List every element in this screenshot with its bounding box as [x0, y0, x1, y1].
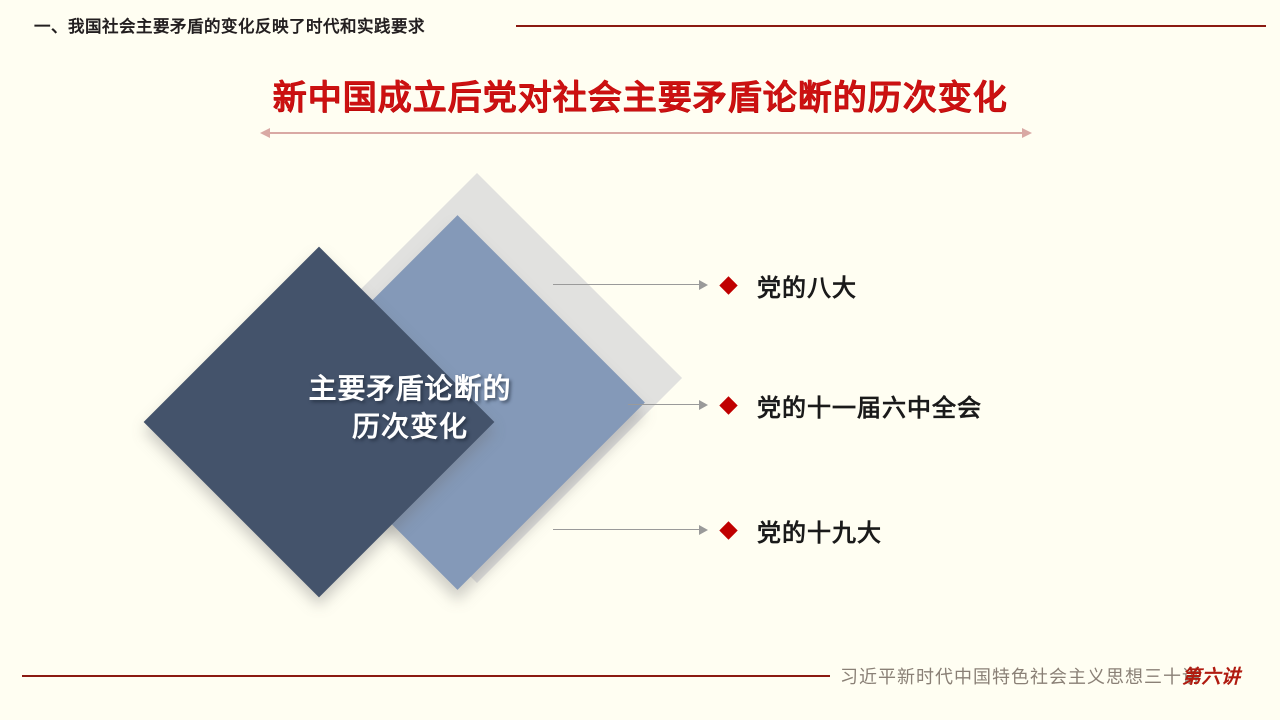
footer-series-title: 习近平新时代中国特色社会主义思想三十讲: [840, 663, 1201, 689]
diamond-center-label-line2: 历次变化: [245, 408, 575, 446]
connector-arrow-icon: [553, 525, 708, 535]
header-divider-line: [516, 25, 1266, 27]
list-item-label: 党的十一届六中全会: [757, 388, 982, 423]
footer-lecture-number: 第六讲: [1182, 662, 1241, 689]
diamond-center-label-line1: 主要矛盾论断的: [245, 370, 575, 408]
connector-arrow-icon: [553, 280, 708, 290]
slide-footer: 习近平新时代中国特色社会主义思想三十讲 第六讲: [0, 660, 1280, 720]
bullet-diamond-icon: [719, 521, 737, 539]
slide-header: 一、我国社会主要矛盾的变化反映了时代和实践要求: [0, 0, 1280, 52]
list-item-label: 党的八大: [757, 268, 857, 303]
list-item[interactable]: 党的八大: [553, 265, 857, 305]
list-item[interactable]: 党的十一届六中全会: [628, 385, 982, 425]
arrow-right-icon: [1022, 128, 1032, 138]
section-heading: 一、我国社会主要矛盾的变化反映了时代和实践要求: [34, 13, 425, 37]
bullet-diamond-icon: [719, 396, 737, 414]
slide-title-text: 新中国成立后党对社会主要矛盾论断的历次变化: [273, 80, 1008, 117]
title-double-arrow-rule: [260, 126, 1032, 140]
diamond-cluster-graphic: 主要矛盾论断的 历次变化: [185, 180, 675, 640]
connector-arrow-icon: [628, 400, 708, 410]
slide-title: 新中国成立后党对社会主要矛盾论断的历次变化: [0, 80, 1280, 117]
list-item[interactable]: 党的十九大: [553, 510, 882, 550]
diamond-center-label: 主要矛盾论断的 历次变化: [245, 370, 575, 446]
list-item-label: 党的十九大: [757, 513, 882, 548]
footer-divider-line: [22, 675, 830, 677]
bullet-diamond-icon: [719, 276, 737, 294]
arrow-line: [269, 132, 1023, 134]
